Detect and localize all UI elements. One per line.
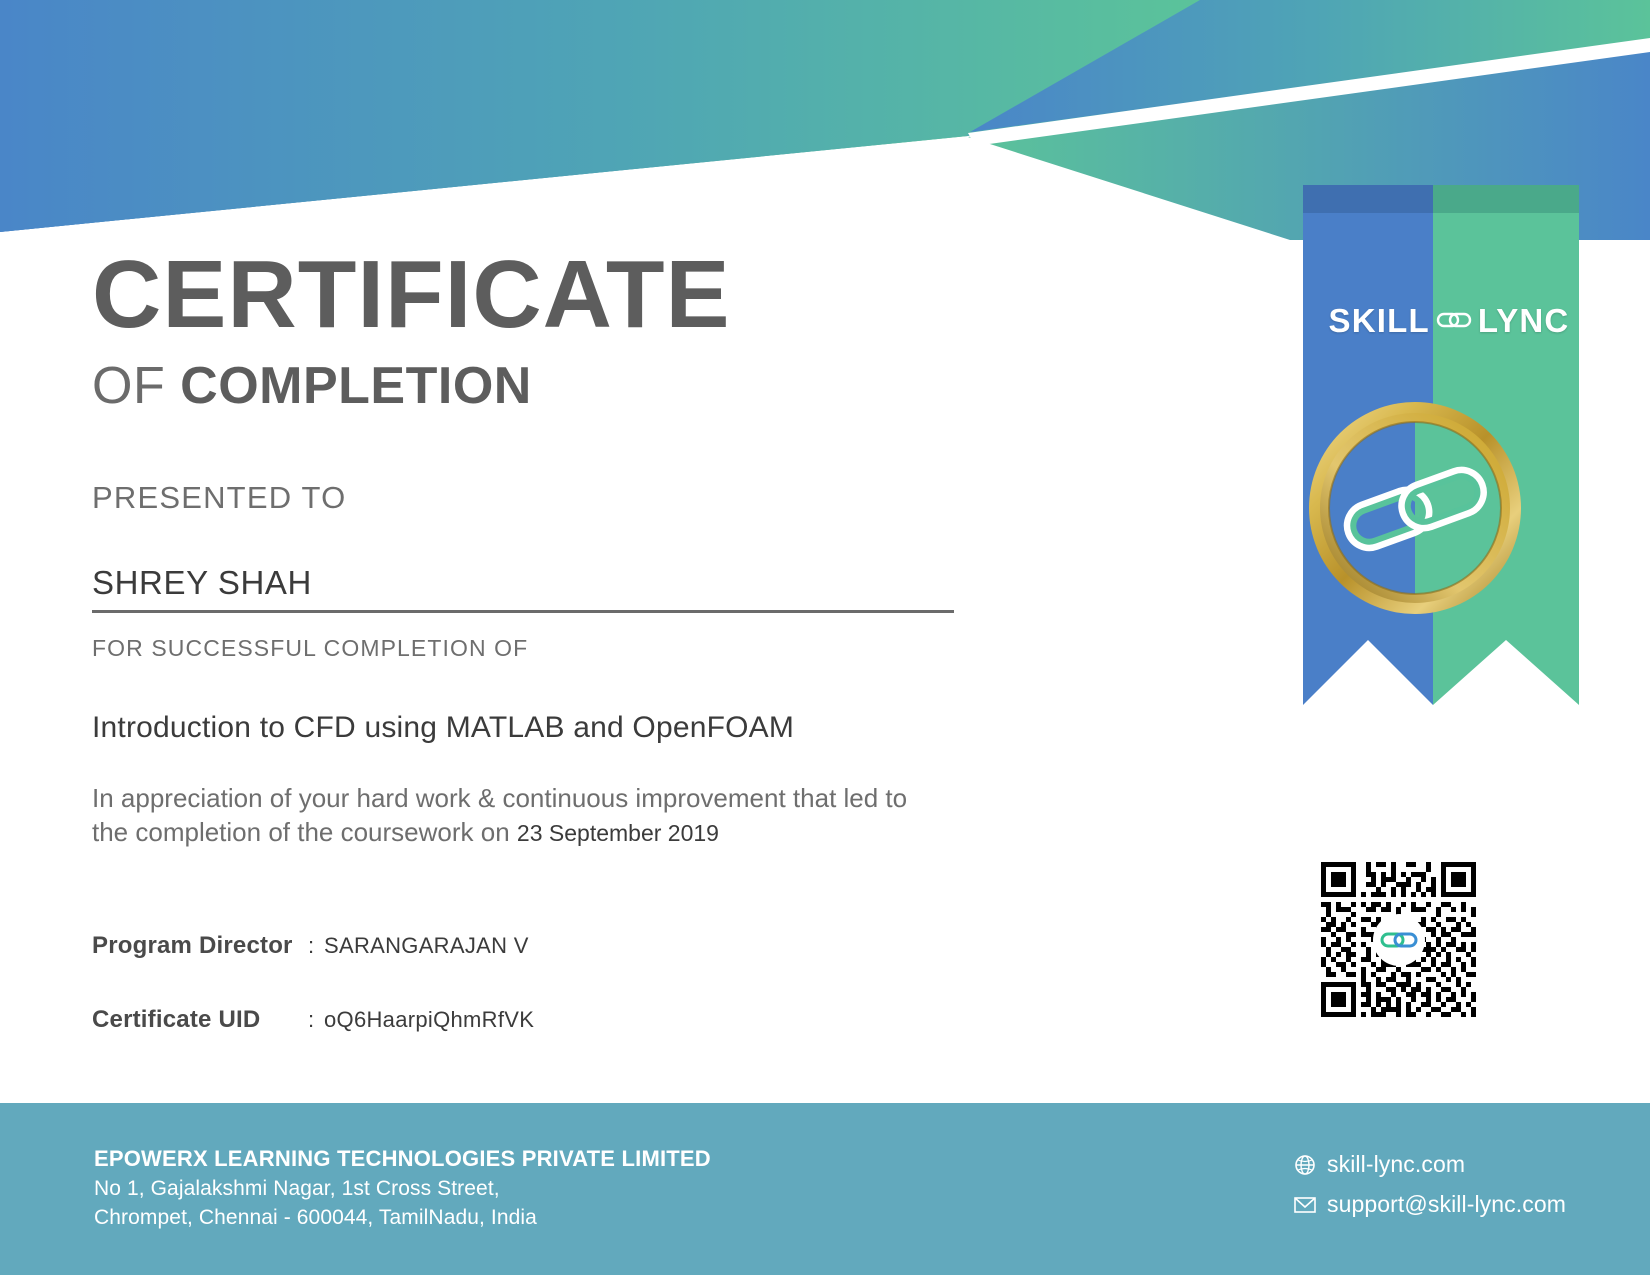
footer-company-name: EPOWERX LEARNING TECHNOLOGIES PRIVATE LI… bbox=[94, 1145, 711, 1174]
appreciation-line-2: the completion of the coursework on bbox=[92, 817, 510, 847]
recipient-name: SHREY SHAH bbox=[92, 564, 1142, 602]
footer-address-line-1: No 1, Gajalakshmi Nagar, 1st Cross Stree… bbox=[94, 1174, 711, 1204]
envelope-icon bbox=[1294, 1194, 1316, 1216]
meta-row-certificate-uid: Certificate UID : oQ6HaarpiQhmRfVK bbox=[92, 1006, 992, 1034]
name-underline-rule bbox=[92, 610, 954, 613]
page-title: CERTIFICATE bbox=[92, 246, 1142, 344]
subtitle-of: OF bbox=[92, 357, 165, 415]
footer-email-row[interactable]: support@skill-lync.com bbox=[1294, 1193, 1566, 1216]
footer-company-block: EPOWERX LEARNING TECHNOLOGIES PRIVATE LI… bbox=[94, 1145, 711, 1233]
subtitle-completion: COMPLETION bbox=[180, 357, 532, 415]
certificate-body: CERTIFICATE OF COMPLETION PRESENTED TO S… bbox=[92, 246, 1142, 850]
certificate-uid-separator: : bbox=[308, 1007, 324, 1033]
footer-address-line-2: Chrompet, Chennai - 600044, TamilNadu, I… bbox=[94, 1203, 711, 1233]
paperclip-link-icon bbox=[1373, 914, 1425, 966]
logo-text-skill: SKILL bbox=[1329, 304, 1430, 337]
certificate-uid-value: oQ6HaarpiQhmRfVK bbox=[324, 1007, 534, 1033]
program-director-value: SARANGARAJAN V bbox=[324, 933, 529, 959]
logo-text-lync: LYNC bbox=[1478, 304, 1570, 337]
skill-lync-logo: SKILL LYNC bbox=[1318, 298, 1580, 342]
footer-contact-block: skill-lync.com support@skill-lync.com bbox=[1294, 1153, 1566, 1233]
footer-email-text: support@skill-lync.com bbox=[1327, 1193, 1566, 1216]
meta-row-program-director: Program Director : SARANGARAJAN V bbox=[92, 932, 992, 960]
footer-bar: EPOWERX LEARNING TECHNOLOGIES PRIVATE LI… bbox=[0, 1103, 1650, 1275]
appreciation-line-1: In appreciation of your hard work & cont… bbox=[92, 783, 907, 813]
qr-code[interactable] bbox=[1321, 862, 1476, 1017]
for-completion-label: FOR SUCCESSFUL COMPLETION OF bbox=[92, 635, 1142, 662]
page-subtitle: OF COMPLETION bbox=[92, 360, 1142, 412]
globe-icon bbox=[1294, 1154, 1316, 1176]
course-name: Introduction to CFD using MATLAB and Ope… bbox=[92, 711, 1142, 745]
completion-date: 23 September 2019 bbox=[517, 820, 719, 846]
program-director-label: Program Director bbox=[92, 932, 308, 960]
certificate-meta: Program Director : SARANGARAJAN V Certif… bbox=[92, 932, 992, 1080]
footer-website-text: skill-lync.com bbox=[1327, 1153, 1465, 1176]
paperclip-link-icon bbox=[1436, 309, 1472, 331]
gold-medal-paperclip-icon bbox=[1302, 395, 1528, 621]
appreciation-text: In appreciation of your hard work & cont… bbox=[92, 781, 912, 850]
footer-website-row[interactable]: skill-lync.com bbox=[1294, 1153, 1566, 1176]
certificate-page: SKILL LYNC bbox=[0, 0, 1650, 1275]
presented-to-label: PRESENTED TO bbox=[92, 480, 1142, 516]
certificate-uid-label: Certificate UID bbox=[92, 1006, 308, 1034]
program-director-separator: : bbox=[308, 933, 324, 959]
